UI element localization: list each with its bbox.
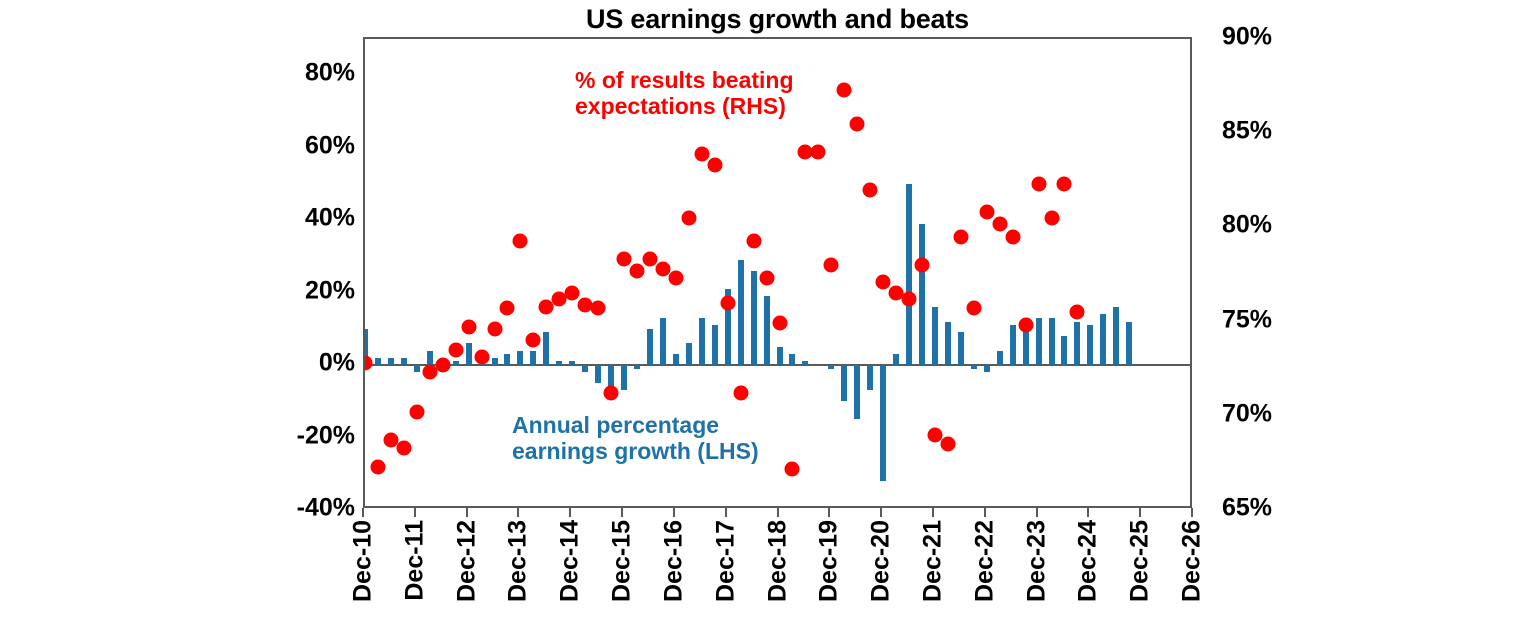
x-axis-tick-label: Dec-20	[867, 520, 896, 602]
x-axis-tick-label: Dec-15	[608, 520, 637, 602]
bar	[997, 351, 1003, 365]
bar	[582, 365, 588, 372]
x-axis-tick-label: Dec-18	[763, 520, 792, 602]
bar	[828, 365, 834, 369]
data-point	[759, 271, 774, 286]
x-axis-tick-label: Dec-10	[349, 520, 378, 602]
data-point	[409, 405, 424, 420]
data-point	[1044, 210, 1059, 225]
bar	[751, 271, 757, 365]
rhs-annotation-line1: % of results beating	[575, 68, 794, 94]
x-axis-tick-label: Dec-21	[918, 520, 947, 602]
chart-title: US earnings growth and beats	[363, 4, 1192, 35]
data-point	[617, 252, 632, 267]
data-point	[526, 333, 541, 348]
data-point	[474, 350, 489, 365]
x-axis-tick	[1139, 508, 1141, 517]
data-point	[1057, 177, 1072, 192]
bar	[1113, 307, 1119, 365]
x-axis-tick	[725, 508, 727, 517]
data-point	[591, 301, 606, 316]
bar	[1061, 336, 1067, 365]
bar	[1074, 322, 1080, 365]
bar	[1126, 322, 1132, 365]
left-y-axis: 80%60%40%20%0%-20%-40%	[255, 37, 355, 508]
data-point	[448, 342, 463, 357]
bar	[945, 322, 951, 365]
x-axis-tick	[1036, 508, 1038, 517]
data-point	[365, 356, 373, 371]
bar	[932, 307, 938, 365]
data-point	[837, 82, 852, 97]
data-point	[914, 258, 929, 273]
data-point	[396, 440, 411, 455]
data-point	[630, 263, 645, 278]
x-axis-tick	[414, 508, 416, 517]
bar	[673, 354, 679, 365]
bar	[1036, 318, 1042, 365]
x-axis-tick	[1191, 508, 1193, 517]
data-point	[681, 210, 696, 225]
data-point	[992, 216, 1007, 231]
x-axis-tick	[673, 508, 675, 517]
data-point	[733, 386, 748, 401]
data-point	[785, 461, 800, 476]
bar	[466, 343, 472, 365]
data-point	[1031, 177, 1046, 192]
x-axis-tick-label: Dec-25	[1126, 520, 1155, 602]
bar	[971, 365, 977, 369]
bar	[1010, 325, 1016, 365]
data-point	[668, 271, 683, 286]
data-point	[461, 320, 476, 335]
bar	[660, 318, 666, 365]
data-point	[811, 145, 826, 160]
bar	[556, 361, 562, 365]
data-point	[500, 301, 515, 316]
data-point	[966, 301, 981, 316]
right-y-axis: 90%85%80%75%70%65%	[1222, 37, 1342, 508]
bar	[647, 329, 653, 365]
bar	[453, 361, 459, 365]
bar	[492, 358, 498, 365]
data-point	[604, 386, 619, 401]
left-axis-tick-label: -40%	[297, 494, 355, 523]
left-axis-tick-label: 60%	[305, 131, 355, 160]
x-axis-tick-label: Dec-12	[452, 520, 481, 602]
data-point	[850, 116, 865, 131]
bar	[880, 365, 886, 481]
right-axis-tick-label: 70%	[1222, 399, 1272, 428]
x-axis-tick-label: Dec-19	[815, 520, 844, 602]
x-axis-tick-label: Dec-26	[1178, 520, 1207, 602]
bar	[595, 365, 601, 383]
x-axis-tick	[828, 508, 830, 517]
bar	[984, 365, 990, 372]
lhs-annotation-line2: earnings growth (LHS)	[512, 439, 759, 465]
x-axis-ticks	[363, 508, 1192, 518]
bar	[906, 184, 912, 365]
data-point	[1070, 305, 1085, 320]
right-axis-tick-label: 80%	[1222, 211, 1272, 240]
x-axis-tick-label: Dec-11	[400, 520, 429, 601]
x-axis-tick	[569, 508, 571, 517]
bar	[958, 332, 964, 365]
x-axis-tick-label: Dec-17	[711, 520, 740, 602]
bar	[1087, 325, 1093, 365]
bar	[893, 354, 899, 365]
lhs-annotation: Annual percentage earnings growth (LHS)	[512, 413, 759, 465]
left-axis-tick-label: -20%	[297, 421, 355, 450]
x-axis-tick-label: Dec-24	[1074, 520, 1103, 602]
x-axis-tick	[984, 508, 986, 517]
bar	[1100, 314, 1106, 365]
bar	[414, 365, 420, 372]
chart-container: US earnings growth and beats 80%60%40%20…	[0, 0, 1536, 630]
bar	[608, 365, 614, 387]
right-axis-tick-label: 85%	[1222, 117, 1272, 146]
bar	[530, 351, 536, 365]
x-axis-tick-label: Dec-16	[659, 520, 688, 602]
x-axis-tick-label: Dec-22	[970, 520, 999, 602]
bar	[777, 347, 783, 365]
bar	[634, 365, 640, 369]
right-axis-tick-label: 65%	[1222, 494, 1272, 523]
bar	[517, 351, 523, 365]
bar	[815, 365, 821, 366]
x-axis-tick	[1087, 508, 1089, 517]
bar	[738, 260, 744, 365]
bar	[699, 318, 705, 365]
bar	[401, 358, 407, 365]
data-point	[1018, 318, 1033, 333]
bar	[543, 332, 549, 365]
bar	[802, 361, 808, 365]
lhs-annotation-line1: Annual percentage	[512, 413, 759, 439]
right-axis-tick-label: 90%	[1222, 23, 1272, 52]
data-point	[720, 295, 735, 310]
bar	[712, 325, 718, 365]
data-point	[513, 233, 528, 248]
rhs-annotation-line2: expectations (RHS)	[575, 94, 794, 120]
bar	[686, 343, 692, 365]
x-axis-tick	[880, 508, 882, 517]
data-point	[863, 182, 878, 197]
x-axis-tick-label: Dec-13	[504, 520, 533, 602]
data-point	[370, 459, 385, 474]
data-point	[876, 275, 891, 290]
data-point	[487, 322, 502, 337]
data-point	[435, 357, 450, 372]
data-point	[953, 229, 968, 244]
bar	[388, 358, 394, 365]
bar	[919, 224, 925, 365]
data-point	[940, 437, 955, 452]
data-point	[565, 286, 580, 301]
x-axis-labels: Dec-10Dec-11Dec-12Dec-13Dec-14Dec-15Dec-…	[363, 520, 1192, 630]
x-axis-tick	[932, 508, 934, 517]
data-point	[902, 291, 917, 306]
data-point	[772, 316, 787, 331]
bar	[1049, 318, 1055, 365]
x-axis-tick-label: Dec-23	[1022, 520, 1051, 602]
data-point	[694, 146, 709, 161]
x-axis-tick-label: Dec-14	[556, 520, 585, 602]
data-point	[979, 205, 994, 220]
x-axis-tick	[621, 508, 623, 517]
x-axis-tick	[777, 508, 779, 517]
right-axis-tick-label: 75%	[1222, 305, 1272, 334]
data-point	[1005, 229, 1020, 244]
left-axis-tick-label: 40%	[305, 204, 355, 233]
data-point	[707, 158, 722, 173]
bar	[867, 365, 873, 390]
left-axis-tick-label: 80%	[305, 59, 355, 88]
data-point	[824, 258, 839, 273]
data-point	[746, 233, 761, 248]
x-axis-tick	[466, 508, 468, 517]
bar	[569, 361, 575, 365]
bar	[789, 354, 795, 365]
bar	[764, 296, 770, 365]
bar	[854, 365, 860, 419]
bar	[375, 358, 381, 365]
bar	[427, 351, 433, 365]
bar	[841, 365, 847, 401]
bar	[504, 354, 510, 365]
rhs-annotation: % of results beating expectations (RHS)	[575, 68, 794, 120]
bar	[621, 365, 627, 390]
x-axis-tick	[517, 508, 519, 517]
left-axis-tick-label: 20%	[305, 276, 355, 305]
left-axis-tick-label: 0%	[319, 349, 355, 378]
x-axis-tick	[362, 508, 364, 517]
